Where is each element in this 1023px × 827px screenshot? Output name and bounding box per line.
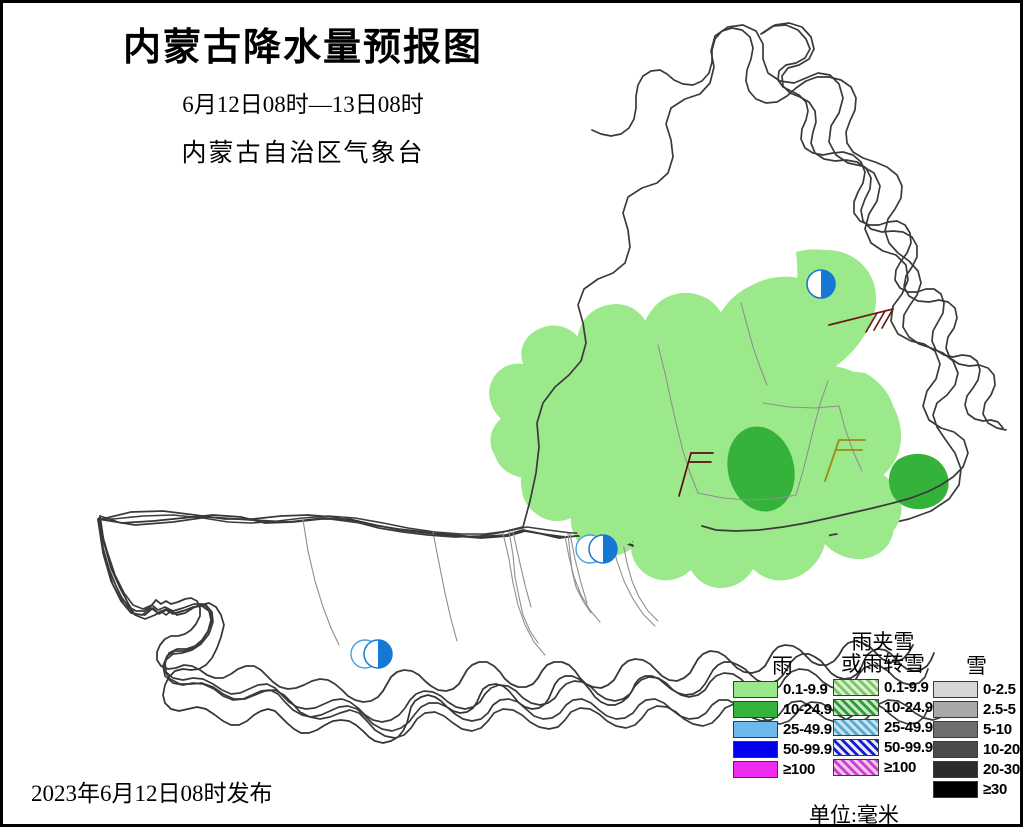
station-southwest — [351, 640, 392, 668]
legend-row: 0.1-9.9 — [833, 678, 933, 697]
legend-title-sleet-line1: 雨夹雪 — [833, 631, 933, 653]
legend-unit-label: 单位:毫米 — [809, 799, 899, 827]
legend-row: 25-49.9 — [733, 720, 832, 739]
legend-label: 50-99.9 — [884, 739, 933, 756]
legend-row: 10-24.9 — [733, 700, 832, 719]
legend-title-rain: 雨 — [733, 655, 832, 677]
legend-row: 25-49.9 — [833, 718, 933, 737]
legend-swatch-snow-5 — [933, 761, 978, 778]
legend-column-sleet: 雨夹雪 或雨转雪 0.1-9.9 10-24.9 25-49.9 50-99.9 — [833, 631, 933, 778]
legend-column-snow: 雪 0-2.5 2.5-5 5-10 10-20 — [933, 655, 1020, 800]
legend-label: ≥100 — [884, 759, 916, 776]
legend-label: ≥100 — [783, 761, 815, 778]
legend-title-sleet-line2: 或雨转雪 — [833, 653, 933, 675]
legend-label: 5-10 — [983, 721, 1012, 738]
legend-swatch-rain-1 — [733, 681, 778, 698]
legend-row: ≥100 — [833, 758, 933, 777]
legend-swatch-sleet-4 — [833, 739, 879, 756]
precipitation-forecast-map-page: 内蒙古降水量预报图 6月12日08时—13日08时 内蒙古自治区气象台 2023… — [0, 0, 1023, 827]
legend-swatch-rain-5 — [733, 761, 778, 778]
legend-label: 0-2.5 — [983, 681, 1016, 698]
legend-swatch-snow-3 — [933, 721, 978, 738]
legend-row: 2.5-5 — [933, 700, 1020, 719]
legend-label: 10-24.9 — [783, 701, 832, 718]
legend-label: 25-49.9 — [884, 719, 933, 736]
issue-timestamp: 2023年6月12日08时发布 — [31, 774, 273, 808]
legend-rows-sleet: 0.1-9.9 10-24.9 25-49.9 50-99.9 ≥100 — [833, 678, 933, 777]
legend-swatch-snow-6 — [933, 781, 978, 798]
legend-label: 0.1-9.9 — [884, 679, 929, 696]
legend-row: 50-99.9 — [833, 738, 933, 757]
legend-rows-rain: 0.1-9.9 10-24.9 25-49.9 50-99.9 ≥100 — [733, 680, 832, 779]
wind-barb-west — [679, 453, 713, 496]
legend-row: 10-20 — [933, 740, 1020, 759]
legend-label: 0.1-9.9 — [783, 681, 828, 698]
legend: 雨 0.1-9.9 10-24.9 25-49.9 50-99.9 — [733, 631, 1018, 823]
legend-swatch-sleet-3 — [833, 719, 879, 736]
legend-row: 10-24.9 — [833, 698, 933, 717]
legend-label: 2.5-5 — [983, 701, 1016, 718]
legend-row: 50-99.9 — [733, 740, 832, 759]
legend-row: 5-10 — [933, 720, 1020, 739]
legend-row: ≥100 — [733, 760, 832, 779]
legend-title-snow: 雪 — [933, 655, 1020, 677]
legend-label: 20-30 — [983, 761, 1020, 778]
legend-swatch-snow-2 — [933, 701, 978, 718]
legend-swatch-rain-4 — [733, 741, 778, 758]
legend-rows-snow: 0-2.5 2.5-5 5-10 10-20 20-30 — [933, 680, 1020, 799]
station-central — [576, 535, 617, 563]
legend-swatch-rain-3 — [733, 721, 778, 738]
legend-swatch-snow-1 — [933, 681, 978, 698]
wind-barb-east — [825, 440, 865, 481]
legend-label: 25-49.9 — [783, 721, 832, 738]
legend-swatch-snow-4 — [933, 741, 978, 758]
legend-swatch-sleet-2 — [833, 699, 879, 716]
legend-column-rain: 雨 0.1-9.9 10-24.9 25-49.9 50-99.9 — [733, 655, 832, 780]
legend-label: 10-20 — [983, 741, 1020, 758]
legend-swatch-sleet-5 — [833, 759, 879, 776]
legend-label: ≥30 — [983, 781, 1007, 798]
legend-swatch-sleet-1 — [833, 679, 879, 696]
legend-label: 50-99.9 — [783, 741, 832, 758]
wind-barb-northeast — [829, 309, 893, 332]
legend-label: 10-24.9 — [884, 699, 933, 716]
legend-row: ≥30 — [933, 780, 1020, 799]
legend-row: 0-2.5 — [933, 680, 1020, 699]
legend-row: 0.1-9.9 — [733, 680, 832, 699]
legend-swatch-rain-2 — [733, 701, 778, 718]
legend-row: 20-30 — [933, 760, 1020, 779]
station-northeast — [807, 270, 835, 298]
